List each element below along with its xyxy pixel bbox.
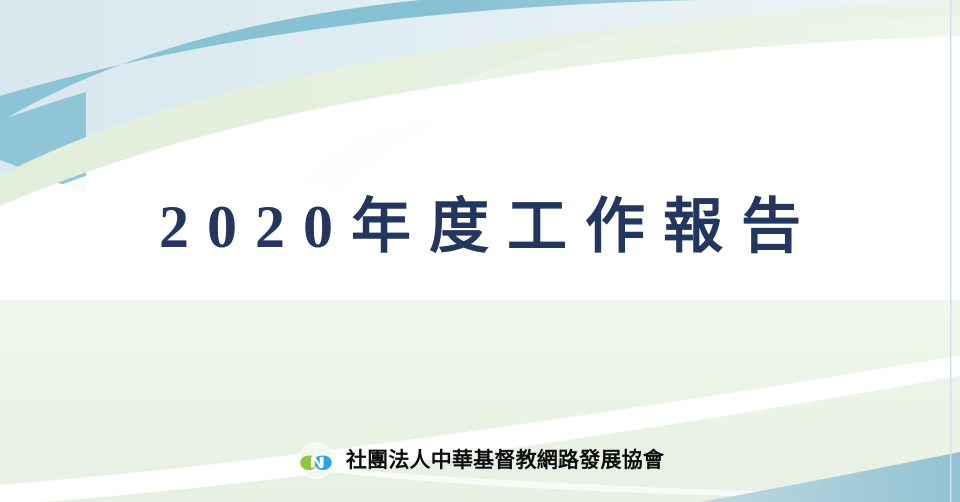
page-title: 2020年度工作報告 (0, 196, 960, 259)
title-block: 2020年度工作報告 (0, 196, 960, 259)
background-pale-blue-band (0, 0, 960, 176)
background-green-arc (300, 0, 960, 194)
footer-organization-lockup: 社團法人中華基督教網路發展協會 (0, 440, 960, 480)
organization-name: 社團法人中華基督教網路發展協會 (346, 450, 664, 471)
background-white-core (0, 36, 960, 300)
title-slide: 2020年度工作報告 社團法人中華基督教網路發展協會 (0, 0, 960, 502)
background-teal-band (0, 0, 700, 122)
background-soft-green-wash (0, 22, 960, 502)
background-teal-tail (0, 92, 86, 194)
background-green-band-upper (0, 6, 960, 206)
association-logo-icon (296, 440, 336, 480)
